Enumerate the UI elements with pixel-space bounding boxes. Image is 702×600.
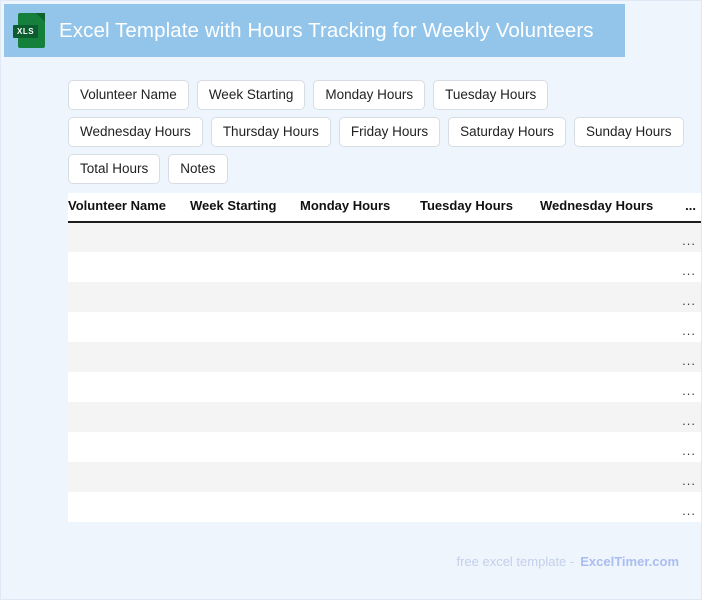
table-cell (540, 222, 670, 252)
table-cell (420, 372, 540, 402)
footer-credit: free excel template -ExcelTimer.com (456, 554, 679, 569)
table-cell (190, 372, 300, 402)
field-pill-tuesday-hours[interactable]: Tuesday Hours (433, 80, 548, 110)
table-cell-overflow: ... (670, 402, 702, 432)
field-pill-sunday-hours[interactable]: Sunday Hours (574, 117, 684, 147)
table-cell-overflow: ... (670, 342, 702, 372)
table-row: ... (68, 342, 702, 372)
table-cell (540, 462, 670, 492)
column-header-volunteer-name: Volunteer Name (68, 193, 190, 222)
table-cell (420, 402, 540, 432)
table-cell (190, 432, 300, 462)
field-pill-wednesday-hours[interactable]: Wednesday Hours (68, 117, 203, 147)
table-cell (420, 252, 540, 282)
table-body: .............................. (68, 222, 702, 522)
template-table-container: Volunteer Name Week Starting Monday Hour… (68, 193, 680, 522)
table-cell-overflow: ... (670, 432, 702, 462)
table-cell (540, 342, 670, 372)
table-cell (300, 492, 420, 522)
page-title: Excel Template with Hours Tracking for W… (59, 19, 594, 43)
column-header-tuesday-hours: Tuesday Hours (420, 193, 540, 222)
table-row: ... (68, 492, 702, 522)
table-row: ... (68, 462, 702, 492)
template-preview-table: Volunteer Name Week Starting Monday Hour… (68, 193, 702, 522)
table-row: ... (68, 222, 702, 252)
table-cell (68, 462, 190, 492)
table-cell (68, 282, 190, 312)
table-cell (300, 342, 420, 372)
table-cell (190, 342, 300, 372)
field-pill-notes[interactable]: Notes (168, 154, 227, 184)
table-cell-overflow: ... (670, 252, 702, 282)
table-cell (68, 252, 190, 282)
table-cell (68, 402, 190, 432)
table-cell (540, 252, 670, 282)
table-cell (68, 492, 190, 522)
table-cell (300, 432, 420, 462)
table-cell (68, 222, 190, 252)
table-cell-overflow: ... (670, 492, 702, 522)
table-row: ... (68, 282, 702, 312)
table-cell (420, 462, 540, 492)
field-pill-row-3: Total Hours Notes (68, 154, 694, 184)
table-cell (540, 282, 670, 312)
table-cell (420, 432, 540, 462)
table-head: Volunteer Name Week Starting Monday Hour… (68, 193, 702, 222)
field-pill-thursday-hours[interactable]: Thursday Hours (211, 117, 331, 147)
table-cell (420, 492, 540, 522)
table-cell (190, 282, 300, 312)
table-row: ... (68, 432, 702, 462)
table-cell (540, 312, 670, 342)
table-cell (540, 402, 670, 432)
table-cell (190, 252, 300, 282)
template-preview-page: XLS Excel Template with Hours Tracking f… (0, 0, 702, 600)
xls-icon-badge-label: XLS (13, 25, 38, 38)
table-cell (300, 252, 420, 282)
table-cell (540, 372, 670, 402)
table-cell-overflow: ... (670, 222, 702, 252)
table-cell-overflow: ... (670, 312, 702, 342)
table-row: ... (68, 252, 702, 282)
table-cell-overflow: ... (670, 372, 702, 402)
xls-file-icon: XLS (18, 13, 45, 48)
table-cell (68, 372, 190, 402)
table-cell (420, 342, 540, 372)
field-pill-row-2: Wednesday Hours Thursday Hours Friday Ho… (68, 117, 694, 147)
table-cell (300, 222, 420, 252)
table-cell (300, 402, 420, 432)
table-cell-overflow: ... (670, 282, 702, 312)
field-pill-saturday-hours[interactable]: Saturday Hours (448, 117, 566, 147)
field-pill-group: Volunteer Name Week Starting Monday Hour… (68, 80, 694, 191)
field-pill-total-hours[interactable]: Total Hours (68, 154, 160, 184)
field-pill-volunteer-name[interactable]: Volunteer Name (68, 80, 189, 110)
field-pill-week-starting[interactable]: Week Starting (197, 80, 306, 110)
column-header-week-starting: Week Starting (190, 193, 300, 222)
footer-free-text: free excel template - (456, 554, 574, 569)
table-cell (300, 372, 420, 402)
table-cell (300, 312, 420, 342)
footer-brand-link[interactable]: ExcelTimer.com (580, 554, 679, 569)
field-pill-monday-hours[interactable]: Monday Hours (313, 80, 425, 110)
xls-icon-corner-fold (36, 13, 45, 22)
table-cell (300, 282, 420, 312)
table-cell (190, 222, 300, 252)
table-cell (540, 432, 670, 462)
table-cell (540, 492, 670, 522)
table-cell (68, 432, 190, 462)
table-row: ... (68, 402, 702, 432)
column-header-wednesday-hours: Wednesday Hours (540, 193, 670, 222)
table-cell (300, 462, 420, 492)
table-row: ... (68, 312, 702, 342)
table-cell (68, 312, 190, 342)
table-cell (190, 492, 300, 522)
table-cell (190, 462, 300, 492)
table-header-row: Volunteer Name Week Starting Monday Hour… (68, 193, 702, 222)
table-row: ... (68, 372, 702, 402)
table-cell (68, 342, 190, 372)
field-pill-friday-hours[interactable]: Friday Hours (339, 117, 440, 147)
table-cell (190, 402, 300, 432)
column-header-overflow: ... (670, 193, 702, 222)
table-cell (190, 312, 300, 342)
table-cell (420, 222, 540, 252)
field-pill-row-1: Volunteer Name Week Starting Monday Hour… (68, 80, 694, 110)
table-cell-overflow: ... (670, 462, 702, 492)
table-cell (420, 312, 540, 342)
table-cell (420, 282, 540, 312)
column-header-monday-hours: Monday Hours (300, 193, 420, 222)
page-header-bar: XLS Excel Template with Hours Tracking f… (4, 4, 625, 57)
